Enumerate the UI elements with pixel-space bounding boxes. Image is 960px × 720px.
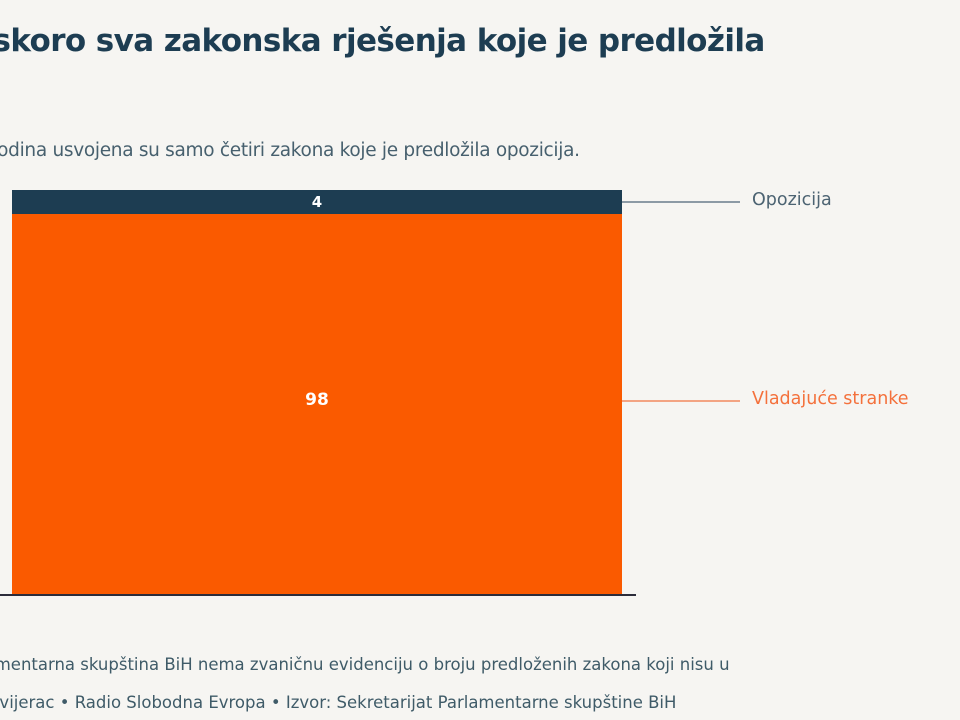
footer: ena: Parlamentarna skupština BiH nema zv… bbox=[0, 640, 960, 720]
axis-baseline bbox=[0, 594, 636, 596]
footer-credits: : Predrag Zvijerac • Radio Slobodna Evro… bbox=[0, 692, 960, 714]
leader-line-opozicija bbox=[622, 201, 740, 203]
page-title: ačena skoro sva zakonska rješenja koje j… bbox=[0, 18, 960, 110]
page-subtitle: eklih deset godina usvojena su samo četi… bbox=[0, 138, 960, 164]
legend-label-opozicija: Opozicija bbox=[752, 190, 832, 210]
footer-note-text: Parlamentarna skupština BiH nema zvaničn… bbox=[0, 655, 730, 674]
bar-value-vladajuce-stranke: 98 bbox=[12, 390, 622, 410]
leader-line-vladajuce-stranke bbox=[622, 400, 740, 402]
bar-segment-vladajuce-stranke[interactable]: 98 bbox=[12, 214, 622, 594]
chart: 4 98 Opozicija Vladajuće stranke bbox=[0, 180, 960, 620]
infographic-page: ačena skoro sva zakonska rješenja koje j… bbox=[0, 0, 960, 720]
bar-value-opozicija: 4 bbox=[12, 193, 622, 211]
legend-label-vladajuce-stranke: Vladajuće stranke bbox=[752, 389, 909, 409]
stacked-bar: 4 98 bbox=[12, 190, 622, 594]
footer-note: ena: Parlamentarna skupština BiH nema zv… bbox=[0, 654, 960, 676]
header: ačena skoro sva zakonska rješenja koje j… bbox=[0, 0, 960, 180]
bar-segment-opozicija[interactable]: 4 bbox=[12, 190, 622, 214]
